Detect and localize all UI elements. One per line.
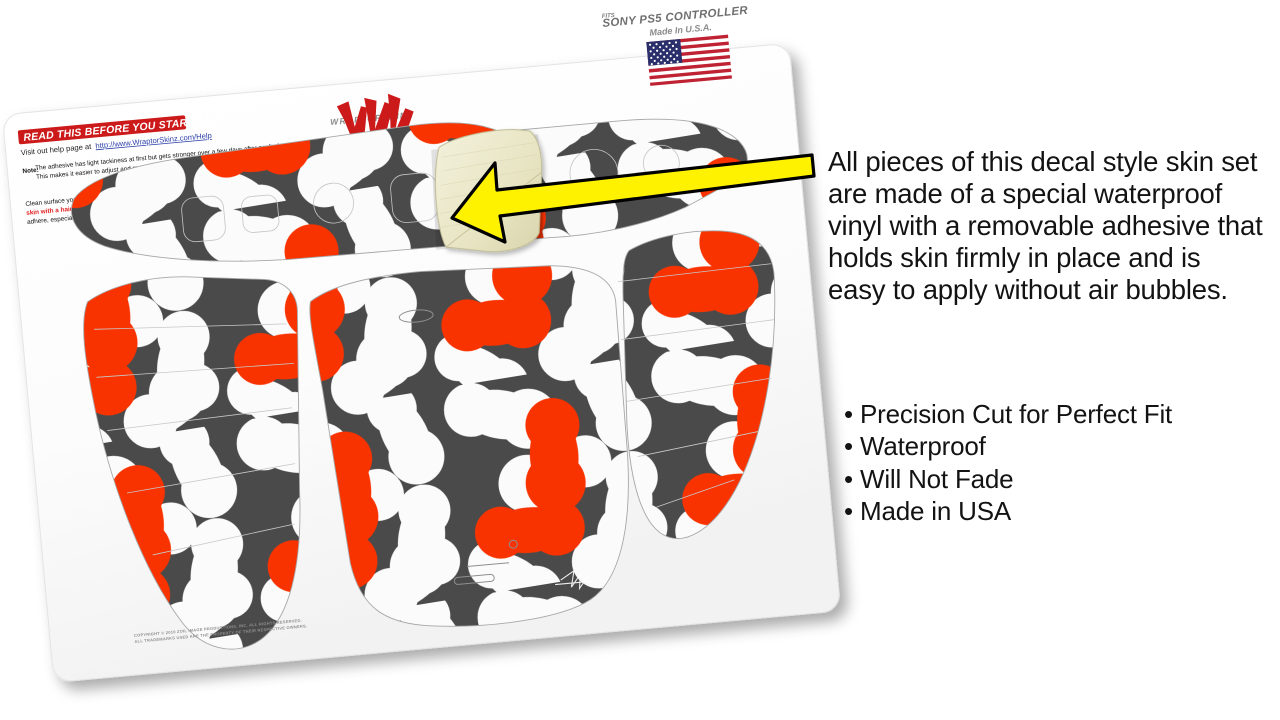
- bullet-text: Will Not Fade: [860, 464, 1013, 494]
- bullet-text: Waterproof: [860, 431, 986, 461]
- list-item: •Precision Cut for Perfect Fit: [844, 398, 1264, 430]
- marketing-column: All pieces of this decal style skin set …: [828, 146, 1264, 306]
- bullet-glyph-icon: •: [844, 463, 860, 495]
- usa-flag-icon: [646, 35, 732, 86]
- bullet-text: Precision Cut for Perfect Fit: [860, 399, 1172, 429]
- bullet-glyph-icon: •: [844, 430, 860, 462]
- lead-paragraph: All pieces of this decal style skin set …: [828, 146, 1264, 306]
- list-item: •Will Not Fade: [844, 463, 1264, 495]
- decal-sheet-container: READ THIS BEFORE YOU START Visit out hel…: [0, 0, 880, 715]
- list-item: •Waterproof: [844, 430, 1264, 462]
- bullet-glyph-icon: •: [844, 495, 860, 527]
- bullet-glyph-icon: •: [844, 398, 860, 430]
- sheet-paper: READ THIS BEFORE YOU START Visit out hel…: [0, 0, 841, 684]
- screenshot-stage: READ THIS BEFORE YOU START Visit out hel…: [0, 0, 1280, 715]
- list-item: •Made in USA: [844, 495, 1264, 527]
- feature-bullet-list: •Precision Cut for Perfect Fit •Waterpro…: [844, 398, 1264, 527]
- decal-sheet-svg: READ THIS BEFORE YOU START Visit out hel…: [0, 0, 880, 715]
- bullet-text: Made in USA: [860, 496, 1011, 526]
